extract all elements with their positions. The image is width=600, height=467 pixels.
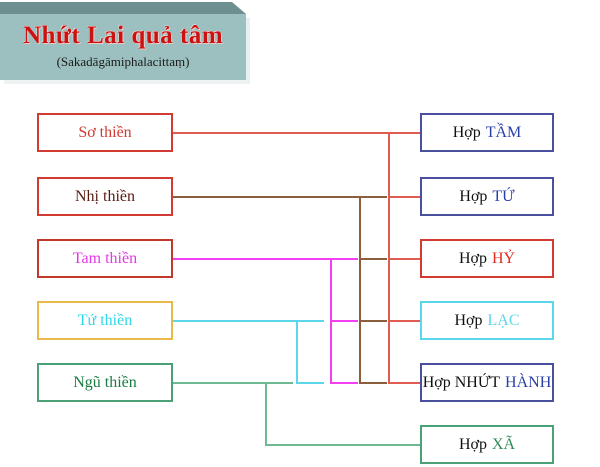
so-thien-connector-branch xyxy=(388,132,420,134)
factor-box-accent: TẦM xyxy=(486,124,522,142)
factor-box-6[interactable]: HợpXÃ xyxy=(420,425,554,464)
factor-box-5[interactable]: Hợp NHỨTHÀNH xyxy=(420,363,554,402)
tam-thien-connector-branch xyxy=(330,258,358,260)
factor-box-prefix: Hợp xyxy=(459,188,487,206)
tu-thien-connector-lead xyxy=(173,320,298,322)
nhi-thien-connector-trunk xyxy=(359,196,361,384)
factor-box-prefix: Hợp xyxy=(454,312,482,330)
factor-box-accent: XÃ xyxy=(492,436,515,454)
nhi-thien-connector-branch xyxy=(359,196,387,198)
factor-box-2[interactable]: HợpTỨ xyxy=(420,177,554,216)
factor-box-accent: HỶ xyxy=(492,250,515,268)
so-thien-connector-lead xyxy=(173,132,390,134)
tam-thien-connector-branch xyxy=(330,320,358,322)
tam-thien-connector-lead xyxy=(173,258,332,260)
ngu-thien-connector-branch xyxy=(265,382,293,384)
jhana-box-label: Tam thiền xyxy=(73,250,137,268)
factor-box-prefix: Hợp NHỨT xyxy=(423,374,500,392)
page-title: Nhứt Lai quả tâm xyxy=(0,22,246,50)
ngu-thien-connector-branch xyxy=(265,444,420,446)
tu-thien-connector-branch xyxy=(296,320,324,322)
jhana-box-4[interactable]: Tứ thiền xyxy=(37,301,173,340)
factor-box-4[interactable]: HợpLẠC xyxy=(420,301,554,340)
factor-box-prefix: Hợp xyxy=(459,436,487,454)
title-bottom-shadow xyxy=(4,80,250,84)
jhana-box-2[interactable]: Nhị thiền xyxy=(37,177,173,216)
nhi-thien-connector-branch xyxy=(359,320,387,322)
nhi-thien-connector-branch xyxy=(359,382,387,384)
factor-box-prefix: Hợp xyxy=(453,124,481,142)
ngu-thien-connector-trunk xyxy=(265,382,267,446)
title-banner: Nhứt Lai quả tâm (Sakadāgāmiphalacittaṃ) xyxy=(0,2,250,86)
factor-box-1[interactable]: HợpTẦM xyxy=(420,113,554,152)
so-thien-connector-branch xyxy=(388,320,420,322)
tam-thien-connector-branch xyxy=(330,382,358,384)
so-thien-connector-branch xyxy=(388,196,420,198)
jhana-box-label: Ngũ thiền xyxy=(73,374,137,392)
jhana-box-label: Tứ thiền xyxy=(78,312,132,330)
factor-box-3[interactable]: HợpHỶ xyxy=(420,239,554,278)
ngu-thien-connector-lead xyxy=(173,382,267,384)
diagram-canvas: Nhứt Lai quả tâm (Sakadāgāmiphalacittaṃ)… xyxy=(0,0,600,467)
jhana-box-1[interactable]: Sơ thiền xyxy=(37,113,173,152)
nhi-thien-connector-lead xyxy=(173,196,361,198)
title-right-shadow xyxy=(246,18,250,84)
jhana-box-3[interactable]: Tam thiền xyxy=(37,239,173,278)
jhana-box-label: Sơ thiền xyxy=(78,124,131,142)
page-subtitle: (Sakadāgāmiphalacittaṃ) xyxy=(0,54,246,70)
factor-box-accent: TỨ xyxy=(492,188,514,206)
jhana-box-label: Nhị thiền xyxy=(75,188,135,206)
tu-thien-connector-trunk xyxy=(296,320,298,384)
tu-thien-connector-branch xyxy=(296,382,324,384)
factor-box-prefix: Hợp xyxy=(459,250,487,268)
factor-box-accent: HÀNH xyxy=(505,374,551,392)
nhi-thien-connector-branch xyxy=(359,258,387,260)
so-thien-connector-branch xyxy=(388,258,420,260)
factor-box-accent: LẠC xyxy=(488,312,520,330)
title-bevel-top xyxy=(0,2,246,14)
so-thien-connector-branch xyxy=(388,382,420,384)
jhana-box-5[interactable]: Ngũ thiền xyxy=(37,363,173,402)
